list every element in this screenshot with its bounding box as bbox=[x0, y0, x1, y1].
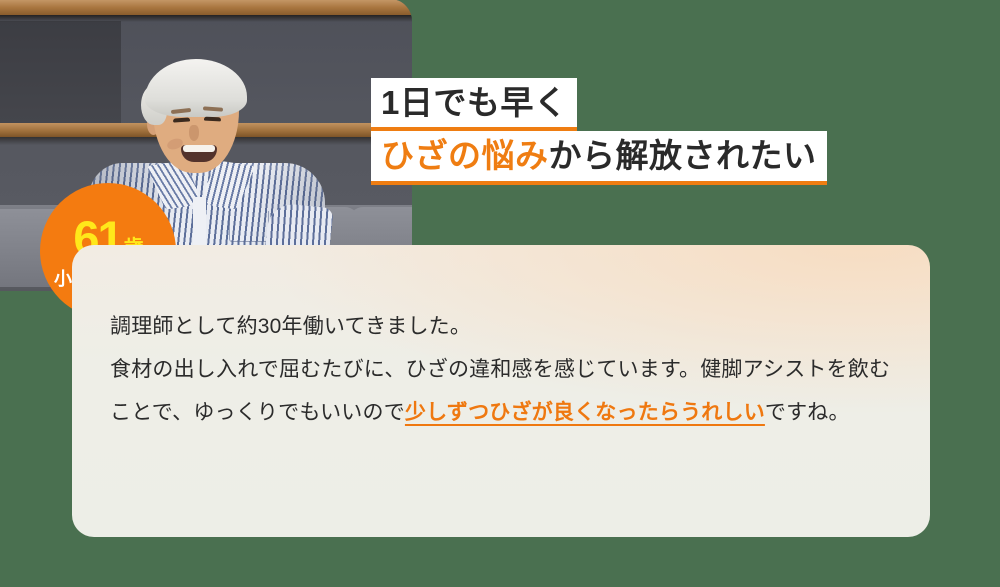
quote-accent-text: 少しずつひざが良くなったらうれしい bbox=[405, 401, 765, 424]
headline-line-2-rest: から解放されたい bbox=[549, 137, 817, 174]
photo-person-nose bbox=[189, 125, 199, 141]
quote-paragraph-1: 調理師として約30年働いてきました。 bbox=[110, 315, 471, 338]
quote-paragraph-3: ですね。 bbox=[765, 401, 850, 424]
headline-line-2: ひざの悩みから解放されたい bbox=[371, 131, 827, 184]
testimonial-card-screen: 61 歳 小山善三さん 1日でも早く ひざの悩みから解放されたい 調理師として約… bbox=[0, 0, 1000, 587]
headline-line-1: 1日でも早く bbox=[371, 78, 577, 131]
photo-person-hair bbox=[145, 59, 247, 117]
headline-accent-text: ひざの悩み bbox=[381, 137, 549, 174]
headline: 1日でも早く ひざの悩みから解放されたい bbox=[371, 78, 827, 185]
quote-text: 調理師として約30年働いてきました。食材の出し入れで屈むたびに、ひざの違和感を感… bbox=[110, 305, 904, 434]
photo-shelf-top bbox=[0, 0, 412, 15]
photo-person-shirt-pocket bbox=[229, 211, 269, 242]
quote-card: 調理師として約30年働いてきました。食材の出し入れで屈むたびに、ひざの違和感を感… bbox=[72, 245, 930, 537]
photo-person-mouth bbox=[181, 145, 217, 162]
photo-person-teeth bbox=[183, 145, 215, 152]
photo-person-eye-right bbox=[204, 117, 221, 122]
photo-shelf-top-shadow bbox=[0, 15, 412, 22]
